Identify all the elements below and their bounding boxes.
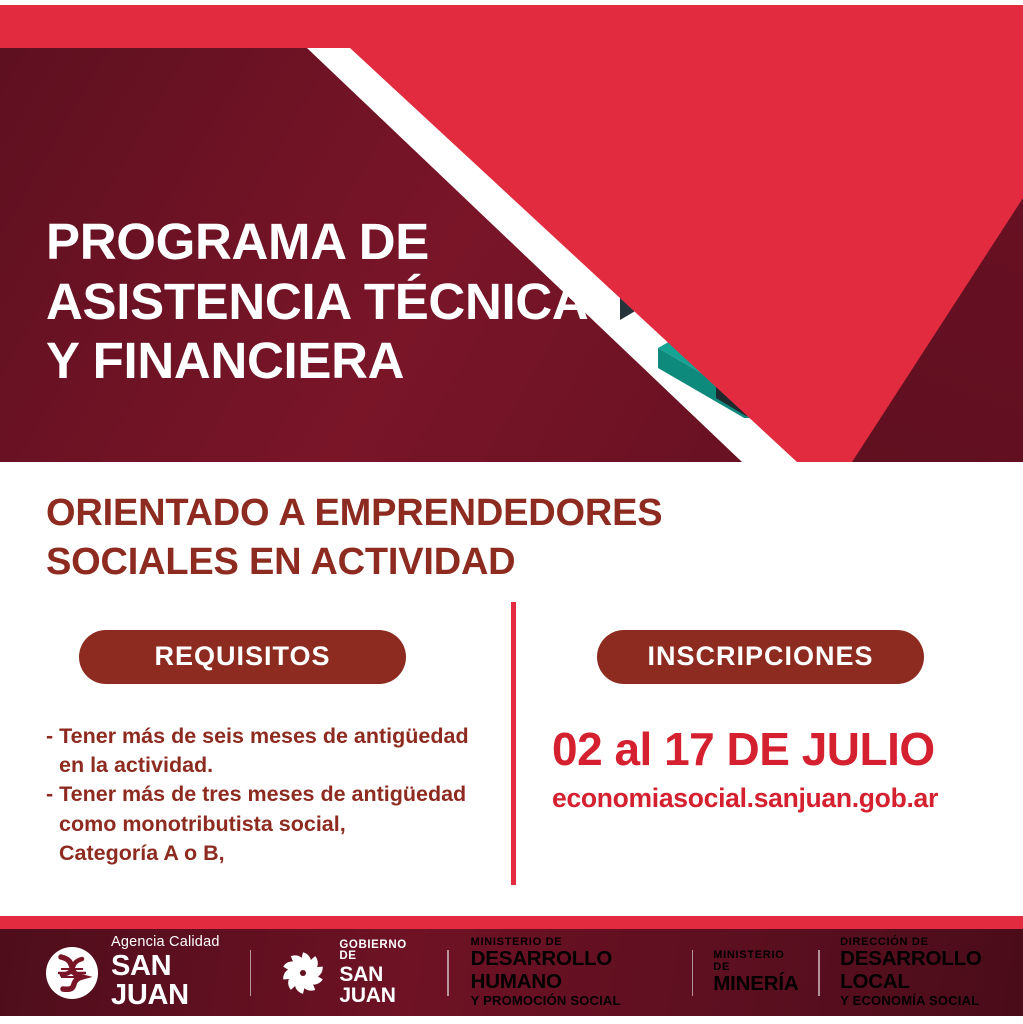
ministry-desarrollo-humano: MINISTERIO DE DESARROLLO HUMANO Y PROMOC…	[471, 936, 672, 1009]
requisitos-pill: REQUISITOS	[79, 630, 406, 684]
requisitos-column: REQUISITOS - Tener más de seis meses de …	[46, 630, 486, 868]
inscription-dates: 02 al 17 DE JULIO	[552, 726, 992, 772]
footer-bar: Agencia Calidad SAN JUAN	[0, 916, 1023, 1016]
footer-separator	[250, 950, 252, 996]
hero-banner: PROGRAMA DE ASISTENCIA TÉCNICA Y FINANCI…	[0, 0, 1023, 462]
subtitle: ORIENTADO A EMPRENDEDORES SOCIALES EN AC…	[46, 489, 662, 586]
logo-agencia-big: SAN JUAN	[111, 952, 224, 1010]
logo-gobierno-big: SAN JUAN	[339, 964, 419, 1006]
logo-agencia-calidad: Agencia Calidad SAN JUAN	[44, 935, 224, 1010]
requisitos-list: - Tener más de seis meses de antigüedad …	[46, 722, 486, 868]
title-line-2: ASISTENCIA TÉCNICA	[46, 272, 646, 332]
ministry-line-1: MINISTERIO DE	[713, 949, 798, 974]
logo-gobierno-caps: GOBIERNO DE	[339, 940, 419, 963]
website-link[interactable]: economiasocial.sanjuan.gob.ar	[552, 783, 992, 814]
subtitle-line-1: ORIENTADO A EMPRENDEDORES	[46, 489, 662, 538]
footer-red-strip	[0, 916, 1023, 929]
footer-separator	[692, 950, 694, 996]
page-title: PROGRAMA DE ASISTENCIA TÉCNICA Y FINANCI…	[46, 212, 646, 391]
logo-agencia-small: Agencia Calidad	[111, 935, 224, 950]
inscripciones-column: INSCRIPCIONES 02 al 17 DE JULIO economia…	[552, 630, 992, 814]
poster-root: PROGRAMA DE ASISTENCIA TÉCNICA Y FINANCI…	[0, 0, 1023, 1024]
footer-separator	[818, 950, 820, 996]
logo-gobierno-text: GOBIERNO DE SAN JUAN	[339, 940, 419, 1006]
list-item: - Tener más de tres meses de antigüedad	[46, 780, 486, 809]
logo-gobierno-san-juan: GOBIERNO DE SAN JUAN	[277, 940, 419, 1006]
footer-separator	[447, 950, 449, 996]
ministry-mineria: MINISTERIO DE MINERÍA	[713, 949, 798, 997]
column-divider	[511, 602, 516, 885]
ministry-line-2: DESARROLLO LOCAL	[840, 948, 1023, 994]
list-item: - Tener más de seis meses de antigüedad	[46, 722, 486, 751]
pinwheel-sun-icon	[277, 947, 329, 999]
ministry-line-2: DESARROLLO HUMANO	[471, 948, 672, 994]
ministry-line-3: Y PROMOCIÓN SOCIAL	[471, 994, 672, 1009]
title-line-1: PROGRAMA DE	[46, 212, 646, 272]
inscripciones-pill: INSCRIPCIONES	[597, 630, 924, 684]
logo-agencia-text: Agencia Calidad SAN JUAN	[111, 935, 224, 1010]
footer-logos: Agencia Calidad SAN JUAN	[0, 929, 1023, 1016]
list-item: en la actividad.	[46, 751, 486, 780]
subtitle-line-2: SOCIALES EN ACTIVIDAD	[46, 538, 662, 587]
list-item: Categoría A o B,	[46, 839, 486, 868]
ministry-desarrollo-local: DIRECCIÓN DE DESARROLLO LOCAL Y ECONOMÍA…	[840, 936, 1023, 1009]
main-content: ORIENTADO A EMPRENDEDORES SOCIALES EN AC…	[0, 462, 1023, 916]
ministry-line-3: Y ECONOMÍA SOCIAL	[840, 994, 1023, 1009]
list-item: como monotributista social,	[46, 810, 486, 839]
dna-circle-icon	[44, 945, 100, 1001]
ministry-line-2: MINERÍA	[713, 973, 798, 996]
title-line-3: Y FINANCIERA	[46, 331, 646, 391]
